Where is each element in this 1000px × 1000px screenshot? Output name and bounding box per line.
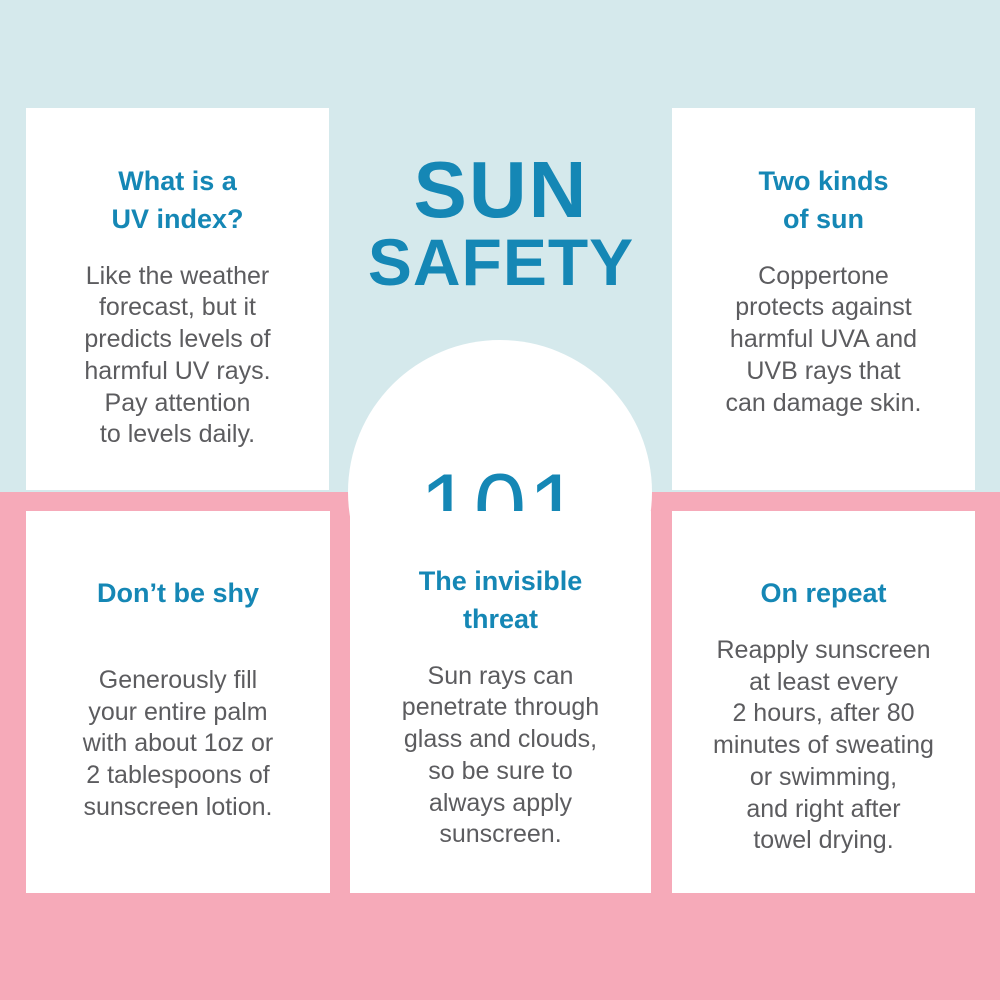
card-uv-index: What is a UV index? Like the weather for… bbox=[26, 108, 329, 490]
card-on-repeat: On repeat Reapply sunscreen at least eve… bbox=[672, 511, 975, 893]
card-on-repeat-body: Reapply sunscreen at least every 2 hours… bbox=[701, 635, 946, 857]
card-dont-be-shy-body: Generously fill your entire palm with ab… bbox=[71, 665, 285, 824]
card-dont-be-shy-title: Don’t be shy bbox=[83, 575, 273, 613]
hero-block: SUN SAFETY 101 bbox=[340, 108, 662, 492]
card-invisible-threat-title: The invisible threat bbox=[405, 563, 597, 639]
card-two-kinds-of-sun-title: Two kinds of sun bbox=[744, 163, 902, 239]
hero-title-line2: SAFETY bbox=[340, 231, 662, 293]
card-uv-index-title: What is a UV index? bbox=[97, 163, 257, 239]
card-uv-index-body: Like the weather forecast, but it predic… bbox=[72, 261, 282, 452]
card-dont-be-shy: Don’t be shy Generously fill your entire… bbox=[26, 511, 330, 893]
card-two-kinds-of-sun-body: Coppertone protects against harmful UVA … bbox=[714, 261, 934, 420]
hero-title: SUN SAFETY bbox=[340, 108, 662, 293]
card-on-repeat-title: On repeat bbox=[746, 575, 900, 613]
card-invisible-threat-body: Sun rays can penetrate through glass and… bbox=[390, 661, 611, 852]
hero-title-line1: SUN bbox=[340, 152, 662, 227]
card-invisible-threat: The invisible threat Sun rays can penetr… bbox=[350, 511, 651, 893]
sun-safety-infographic: What is a UV index? Like the weather for… bbox=[0, 0, 1000, 1000]
card-two-kinds-of-sun: Two kinds of sun Coppertone protects aga… bbox=[672, 108, 975, 490]
